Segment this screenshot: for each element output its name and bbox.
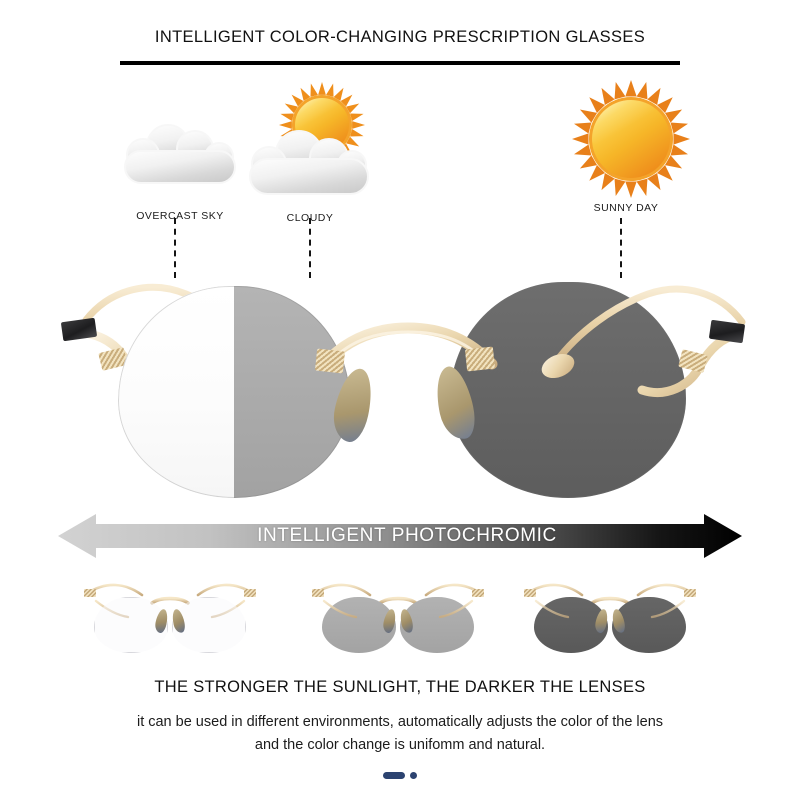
- footer-description-line-1: it can be used in different environments…: [0, 711, 800, 734]
- pagination-dot[interactable]: [410, 772, 417, 779]
- sun-behind-cloud-icon: [245, 82, 375, 210]
- weather-item-overcast: OVERCAST SKY: [110, 102, 250, 222]
- page-title: INTELLIGENT COLOR-CHANGING PRESCRIPTION …: [0, 28, 800, 47]
- medium-thumb-jewel-left: [312, 589, 324, 597]
- dark-thumb-jewel-right: [684, 589, 696, 597]
- left-lens-edge: [118, 286, 350, 498]
- left-lens: [118, 286, 350, 498]
- lens-state-thumbnail-row: [0, 563, 800, 659]
- dark-state-thumbnail[interactable]: [512, 571, 708, 653]
- infographic-page: INTELLIGENT COLOR-CHANGING PRESCRIPTION …: [0, 0, 800, 800]
- cloud-icon: [110, 102, 250, 210]
- footer-description-line-2: and the color change is unifomm and natu…: [0, 734, 800, 757]
- footer-description: it can be used in different environments…: [0, 711, 800, 757]
- weather-label-overcast: OVERCAST SKY: [110, 210, 250, 222]
- clear-state-thumbnail[interactable]: [72, 571, 268, 653]
- bridge-right-jewel: [465, 347, 495, 372]
- sun-icon: [556, 78, 696, 206]
- arrow-banner-label: INTELLIGENT PHOTOCHROMIC: [58, 512, 742, 560]
- header-divider: [120, 61, 680, 65]
- clear-thumb-jewel-right: [244, 589, 256, 597]
- footer-text-block: THE STRONGER THE SUNLIGHT, THE DARKER TH…: [0, 678, 800, 757]
- photochromic-arrow-banner: INTELLIGENT PHOTOCHROMIC: [58, 512, 742, 560]
- weather-condition-row: OVERCAST SKY: [0, 78, 800, 218]
- header: INTELLIGENT COLOR-CHANGING PRESCRIPTION …: [0, 28, 800, 47]
- weather-item-cloudy: CLOUDY: [245, 82, 375, 224]
- weather-item-sunny: SUNNY DAY: [556, 78, 696, 214]
- glasses-hero-image: [0, 262, 800, 512]
- dark-thumb-jewel-left: [524, 589, 536, 597]
- footer-headline: THE STRONGER THE SUNLIGHT, THE DARKER TH…: [0, 678, 800, 697]
- pagination-active-pill[interactable]: [383, 772, 405, 779]
- pagination-indicator[interactable]: [0, 772, 800, 779]
- clear-thumb-jewel-left: [84, 589, 96, 597]
- medium-state-thumbnail[interactable]: [300, 571, 496, 653]
- bridge-left-jewel: [315, 349, 345, 374]
- medium-thumb-jewel-right: [472, 589, 484, 597]
